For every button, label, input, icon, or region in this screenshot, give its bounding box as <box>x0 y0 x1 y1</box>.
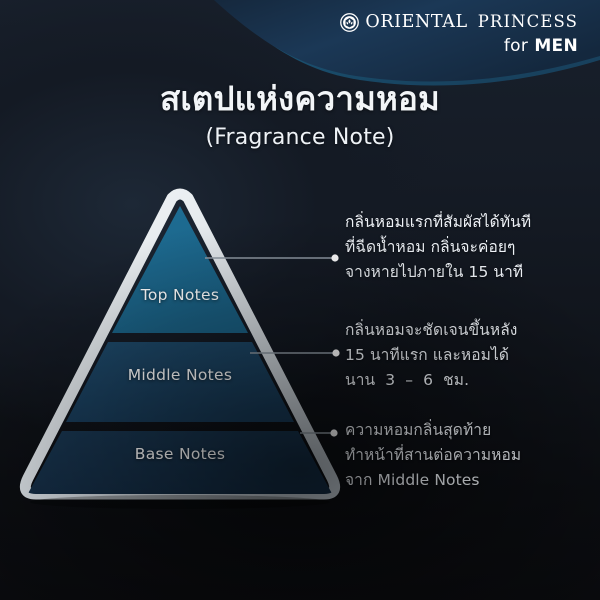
note-line: กลิ่นหอมจะชัดเจนขึ้นหลัง <box>345 318 517 343</box>
note-line: จาก Middle Notes <box>345 468 521 493</box>
brand-logo: ORIENTAL PRINCESS for MEN <box>340 13 578 55</box>
oriental-princess-emblem-icon <box>340 13 359 32</box>
note-line: กลิ่นหอมแรกที่สัมผัสได้ทันที <box>345 210 531 235</box>
brand-name-oriental: ORIENTAL <box>365 14 467 32</box>
brand-tagline-men: MEN <box>534 36 578 56</box>
note-line: 15 นาทีแรก และหอมได้ <box>345 343 517 368</box>
header-band: ORIENTAL PRINCESS for MEN <box>0 0 600 88</box>
brand-primary-row: ORIENTAL PRINCESS <box>340 13 578 32</box>
page-title: สเตปแห่งความหอม (Fragrance Note) <box>0 78 600 150</box>
note-line: ความหอมกลิ่นสุดท้าย <box>345 418 521 443</box>
note-line: นาน 3 – 6 ชม. <box>345 368 517 393</box>
brand-name-princess: PRINCESS <box>478 14 578 31</box>
note-line: ที่ฉีดน้ำหอม กลิ่นจะค่อยๆ <box>345 235 531 260</box>
infographic-canvas: ORIENTAL PRINCESS for MEN สเตปแห่งความหอ… <box>0 0 600 600</box>
note-line: ทำหน้าที่สานต่อความหอม <box>345 443 521 468</box>
fragrance-pyramid: Top Notes Middle Notes Base Notes <box>12 186 348 512</box>
pyramid-shape <box>12 186 348 512</box>
pyramid-segments <box>18 206 342 512</box>
note-line: จางหายไปภายใน 15 นาที <box>345 260 531 285</box>
note-description-middle: กลิ่นหอมจะชัดเจนขึ้นหลัง 15 นาทีแรก และห… <box>345 318 517 393</box>
brand-tagline: for MEN <box>504 38 578 55</box>
pyramid-segment-middle <box>66 342 294 422</box>
brand-tagline-for: for <box>504 36 528 56</box>
title-thai: สเตปแห่งความหอม <box>0 78 600 119</box>
title-english: (Fragrance Note) <box>0 125 600 150</box>
pyramid-shadow <box>30 495 330 509</box>
note-description-top: กลิ่นหอมแรกที่สัมผัสได้ทันที ที่ฉีดน้ำหอ… <box>345 210 531 285</box>
note-description-base: ความหอมกลิ่นสุดท้าย ทำหน้าที่สานต่อความห… <box>345 418 521 493</box>
